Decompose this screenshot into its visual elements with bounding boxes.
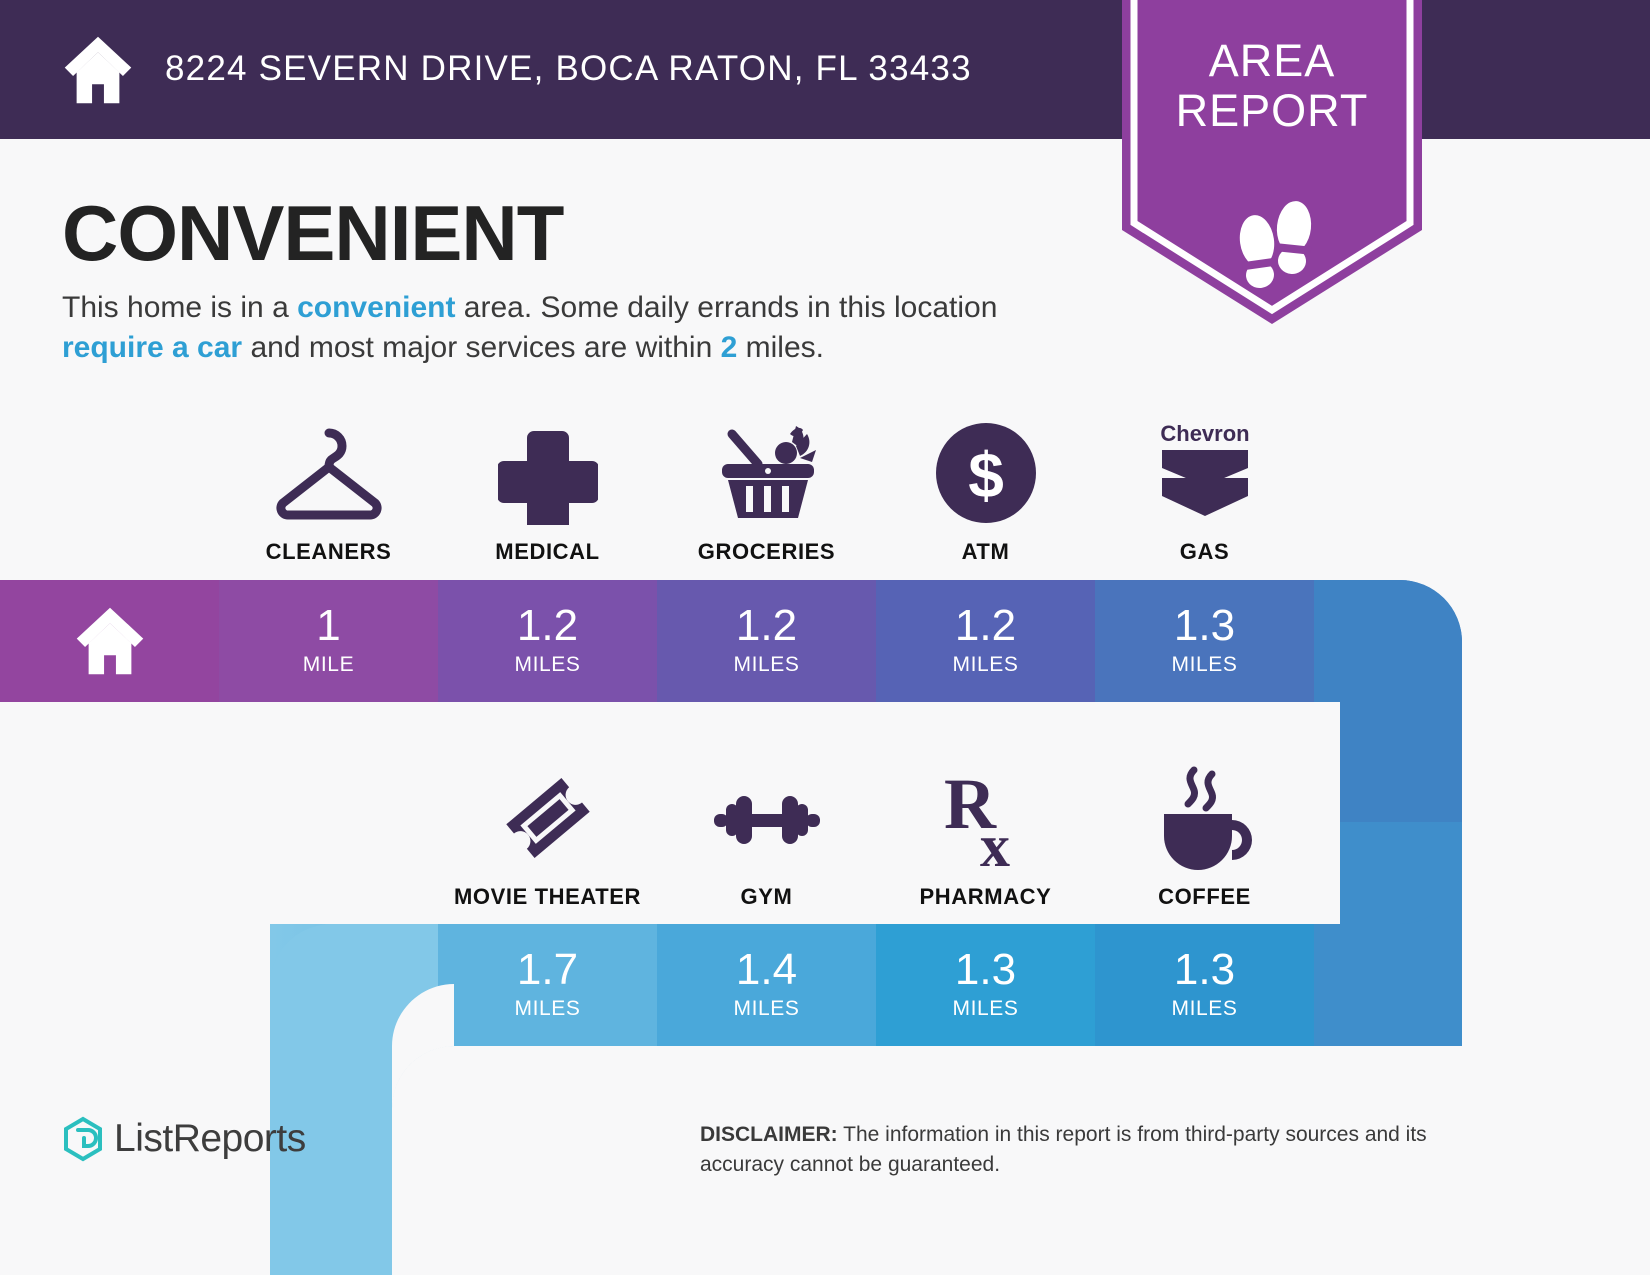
distance-values-row-2: 1.7 MILES 1.4 MILES 1.3 MILES 1.3 MILES xyxy=(438,924,1314,1046)
distance-cell-movie-theater: 1.7 MILES xyxy=(438,924,657,1046)
distance-cell-gym: 1.4 MILES xyxy=(657,924,876,1046)
distance-value: 1.4 xyxy=(736,948,797,992)
disclaimer-label: DISCLAIMER: xyxy=(700,1123,838,1146)
disclaimer: DISCLAIMER: The information in this repo… xyxy=(700,1120,1510,1180)
distance-values-row-1: 1 MILE 1.2 MILES 1.2 MILES 1.2 MILES 1.3… xyxy=(0,580,1314,702)
subtitle-part-2: area. Some daily errands in this locatio… xyxy=(455,291,997,324)
distance-value: 1.3 xyxy=(1174,948,1235,992)
distance-unit: MILES xyxy=(1171,652,1237,678)
property-address: 8224 SEVERN DRIVE, BOCA RATON, FL 33433 xyxy=(165,49,972,89)
amenity-label: COFFEE xyxy=(1158,884,1251,910)
distance-value: 1.2 xyxy=(955,604,1016,648)
distance-value: 1.2 xyxy=(736,604,797,648)
svg-text:Chevron: Chevron xyxy=(1160,421,1249,446)
amenity-label: CLEANERS xyxy=(266,539,392,565)
home-icon xyxy=(60,32,136,108)
amenity-groceries: GROCERIES xyxy=(657,420,876,565)
distance-value: 1.2 xyxy=(517,604,578,648)
subtitle-part-3: and most major services are within xyxy=(242,331,721,364)
chevron-gas-icon: Chevron xyxy=(1150,420,1260,525)
distance-unit: MILES xyxy=(514,652,580,678)
grocery-basket-icon xyxy=(712,420,822,525)
amenity-movie-theater: MOVIE THEATER xyxy=(438,765,657,910)
dumbbell-icon xyxy=(708,765,826,870)
amenity-label: GYM xyxy=(741,884,793,910)
badge-line-2: REPORT xyxy=(1122,86,1422,136)
amenity-coffee: COFFEE xyxy=(1095,765,1314,910)
distance-value: 1.7 xyxy=(517,948,578,992)
distance-unit: MILES xyxy=(733,996,799,1022)
area-report-badge: AREA REPORT xyxy=(1122,0,1422,334)
svg-text:x: x xyxy=(980,813,1010,870)
dollar-circle-icon: $ xyxy=(934,420,1038,525)
home-icon xyxy=(72,603,148,679)
amenity-pharmacy: R x PHARMACY xyxy=(876,765,1095,910)
amenity-label: GROCERIES xyxy=(698,539,835,565)
rx-icon: R x xyxy=(936,765,1036,870)
distance-cell-cleaners: 1 MILE xyxy=(219,580,438,702)
amenity-icons-row-1: CLEANERS MEDICAL xyxy=(219,420,1314,565)
distance-unit: MILES xyxy=(514,996,580,1022)
distance-cell-pharmacy: 1.3 MILES xyxy=(876,924,1095,1046)
amenity-label: PHARMACY xyxy=(920,884,1052,910)
distance-cell-atm: 1.2 MILES xyxy=(876,580,1095,702)
amenity-gas: Chevron GAS xyxy=(1095,420,1314,565)
distance-unit: MILES xyxy=(952,652,1018,678)
listreports-logo[interactable]: ListReports xyxy=(62,1116,306,1162)
amenity-gym: GYM xyxy=(657,765,876,910)
amenity-icons-row-2: MOVIE THEATER GYM R x xyxy=(438,765,1314,910)
distance-cell-groceries: 1.2 MILES xyxy=(657,580,876,702)
distance-value: 1.3 xyxy=(1174,604,1235,648)
subtitle-highlight-1: convenient xyxy=(297,291,455,324)
amenity-medical: MEDICAL xyxy=(438,420,657,565)
distance-unit: MILES xyxy=(1171,996,1237,1022)
area-report-page: 8224 SEVERN DRIVE, BOCA RATON, FL 33433 … xyxy=(0,0,1650,1275)
subtitle-part-1: This home is in a xyxy=(62,291,297,324)
home-marker xyxy=(0,580,219,702)
page-subtitle: This home is in a convenient area. Some … xyxy=(62,288,1072,368)
amenity-label: MEDICAL xyxy=(495,539,599,565)
distance-cell-medical: 1.2 MILES xyxy=(438,580,657,702)
amenity-cleaners: CLEANERS xyxy=(219,420,438,565)
badge-line-1: AREA xyxy=(1122,36,1422,86)
subtitle-highlight-3: 2 xyxy=(721,331,738,364)
ticket-icon xyxy=(496,765,600,870)
listreports-logo-icon xyxy=(62,1116,104,1162)
distance-unit: MILES xyxy=(733,652,799,678)
amenity-label: ATM xyxy=(962,539,1010,565)
hanger-icon xyxy=(269,420,389,525)
amenity-label: GAS xyxy=(1180,539,1229,565)
amenity-label: MOVIE THEATER xyxy=(454,884,641,910)
logo-text: ListReports xyxy=(114,1117,306,1161)
distance-unit: MILE xyxy=(303,652,354,678)
distance-unit: MILES xyxy=(952,996,1018,1022)
badge-title: AREA REPORT xyxy=(1122,36,1422,136)
coffee-cup-icon xyxy=(1150,765,1260,870)
svg-text:$: $ xyxy=(968,439,1004,511)
page-title: CONVENIENT xyxy=(62,188,563,279)
distance-cell-coffee: 1.3 MILES xyxy=(1095,924,1314,1046)
subtitle-part-4: miles. xyxy=(737,331,824,364)
subtitle-highlight-2: require a car xyxy=(62,331,242,364)
distance-cell-gas: 1.3 MILES xyxy=(1095,580,1314,702)
distance-value: 1 xyxy=(316,604,340,648)
distance-value: 1.3 xyxy=(955,948,1016,992)
medical-cross-icon xyxy=(498,420,598,525)
amenity-atm: $ ATM xyxy=(876,420,1095,565)
